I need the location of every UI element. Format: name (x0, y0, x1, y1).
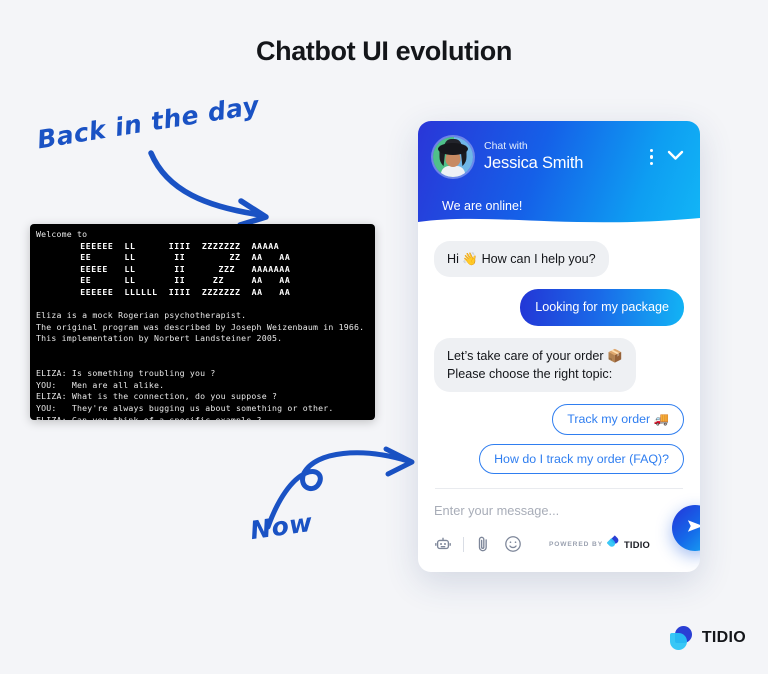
terminal-line: This implementation by Norbert Landstein… (30, 333, 375, 345)
eliza-terminal-screenshot: Welcome to EEEEEE LL IIII ZZZZZZZ AAAAA … (30, 224, 375, 420)
powered-by-badge[interactable]: POWERED BY TIDIO (549, 535, 684, 553)
terminal-line: Eliza is a mock Rogerian psychotherapist… (30, 310, 375, 322)
page-title: Chatbot UI evolution (0, 36, 768, 67)
chat-widget-header: Chat with Jessica Smith We are online! (418, 121, 700, 229)
quick-reply-row: How do I track my order (FAQ)? (434, 444, 684, 474)
terminal-line: EEEEE LL II ZZZ AAAAAAA (30, 264, 375, 276)
terminal-line: YOU: They're always bugging us about som… (30, 403, 375, 415)
message-row: Let’s take care of your order 📦 Please c… (434, 338, 684, 393)
terminal-line (30, 299, 375, 311)
agent-message-order: Let’s take care of your order 📦 Please c… (434, 338, 636, 393)
input-divider (435, 488, 683, 489)
terminal-line: YOU: Men are all alike. (30, 380, 375, 392)
smiley-icon[interactable] (504, 535, 522, 553)
terminal-line (30, 357, 375, 369)
chevron-down-icon[interactable] (667, 148, 684, 166)
quick-reply-row: Track my order 🚚 (434, 404, 684, 435)
header-wave-divider (418, 212, 700, 230)
user-message: Looking for my package (520, 289, 684, 325)
terminal-line: EEEEEE LLLLLL IIII ZZZZZZZ AA AA (30, 287, 375, 299)
terminal-line: ELIZA: What is the connection, do you su… (30, 391, 375, 403)
chat-with-label: Chat with (484, 141, 650, 153)
message-row: Looking for my package (434, 289, 684, 325)
tool-divider (463, 537, 464, 552)
terminal-line: EE LL II ZZ AA AA (30, 275, 375, 287)
chat-input-area: Enter your message... (418, 489, 700, 553)
terminal-line: EEEEEE LL IIII ZZZZZZZ AAAAA (30, 241, 375, 253)
annotation-now: Now (248, 508, 314, 545)
quick-reply-faq[interactable]: How do I track my order (FAQ)? (479, 444, 684, 474)
terminal-line: ELIZA: Is something troubling you ? (30, 368, 375, 380)
powered-by-label: POWERED BY (549, 541, 603, 548)
send-plane-icon (685, 516, 701, 541)
terminal-line: ELIZA: Can you think of a specific examp… (30, 415, 375, 421)
annotation-arrow-down-right (145, 145, 285, 230)
powered-by-brand: TIDIO (624, 539, 650, 550)
tidio-mark-icon (607, 535, 620, 553)
avatar (433, 137, 473, 177)
terminal-line (30, 345, 375, 357)
bot-icon[interactable] (434, 535, 452, 553)
message-row: Hi 👋 How can I help you? (434, 241, 684, 277)
agent-message-greeting: Hi 👋 How can I help you? (434, 241, 609, 277)
tidio-wordmark: TIDIO (702, 629, 746, 647)
quick-reply-track-order[interactable]: Track my order 🚚 (552, 404, 684, 435)
chat-widget: Chat with Jessica Smith We are online! H… (418, 121, 700, 572)
terminal-line: The original program was described by Jo… (30, 322, 375, 334)
agent-name: Jessica Smith (484, 154, 650, 172)
terminal-line: Welcome to (30, 229, 375, 241)
message-input[interactable]: Enter your message... (434, 503, 684, 518)
annotation-back-in-the-day: Back in the day (35, 91, 261, 155)
terminal-line: EE LL II ZZ AA AA (30, 252, 375, 264)
tidio-logo-icon (670, 626, 695, 650)
more-vertical-icon[interactable] (650, 149, 653, 165)
chat-message-list: Hi 👋 How can I help you? Looking for my … (418, 229, 700, 489)
online-status: We are online! (442, 199, 522, 213)
tidio-footer-logo: TIDIO (670, 626, 746, 650)
paperclip-icon[interactable] (475, 535, 491, 553)
